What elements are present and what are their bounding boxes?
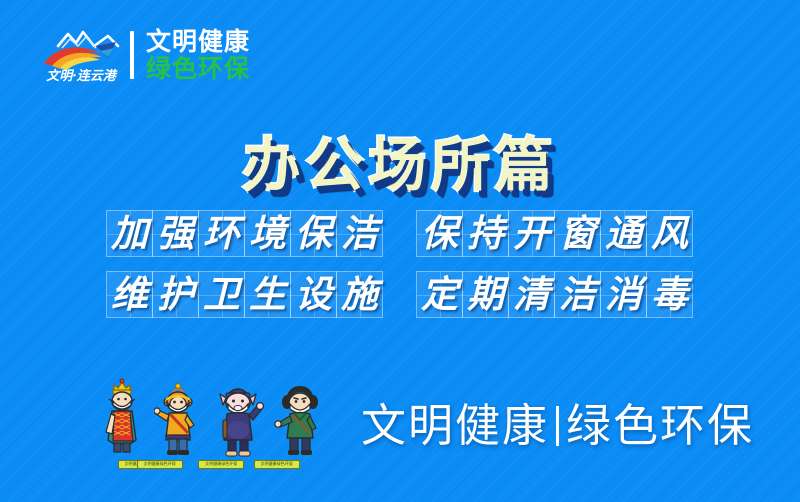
- grid-cell: 保: [290, 210, 337, 257]
- slogan-char: 风: [651, 215, 688, 252]
- grid-cell: 维: [106, 271, 153, 318]
- slogan-char: 开: [513, 215, 550, 252]
- slogan-row: 维 护 卫 生 设 施 定 期 清 洁 消 毒: [107, 271, 693, 318]
- slogan-char: 设: [295, 276, 332, 313]
- slogan-phrase: 加 强 环 境 保 洁: [107, 210, 383, 257]
- header-logo-group: 文明·连云港 文明健康 绿色环保: [38, 22, 250, 88]
- grid-cell: 护: [152, 271, 199, 318]
- slogan-grid: 加 强 环 境 保 洁 保 持 开 窗 通 风 维 护 卫 生 设: [0, 210, 800, 318]
- grid-cell: 强: [152, 210, 199, 257]
- bottom-slogan-divider: [556, 406, 559, 446]
- header-slogan: 文明健康 绿色环保: [146, 28, 250, 82]
- slogan-char: 环: [203, 215, 240, 252]
- sun-wukong-mascot-icon: 文明健康绿色环保: [154, 380, 210, 466]
- header-divider: [130, 31, 134, 79]
- poster-canvas: 文明·连云港 文明健康 绿色环保 办公场所篇 加 强 环 境 保 洁 保 持 开: [0, 0, 800, 502]
- bottom-slogan-right: 绿色环保: [566, 399, 754, 452]
- grid-cell: 保: [416, 210, 463, 257]
- sha-wujing-mascot-icon: 文明健康绿色环保: [272, 378, 330, 466]
- slogan-char: 洁: [341, 215, 378, 252]
- slogan-char: 境: [249, 215, 286, 252]
- grid-cell: 境: [244, 210, 291, 257]
- bottom-slogan-left: 文明健康: [361, 399, 549, 452]
- mountain-wave-logo-icon: 文明·连云港: [38, 24, 124, 86]
- grid-cell: 持: [462, 210, 509, 257]
- slogan-phrase: 保 持 开 窗 通 风: [417, 210, 693, 257]
- slogan-char: 窗: [559, 215, 596, 252]
- grid-cell: 期: [462, 271, 509, 318]
- grid-cell: 定: [416, 271, 463, 318]
- grid-cell: 清: [508, 271, 555, 318]
- slogan-char: 保: [421, 215, 458, 252]
- bottom-slogan: 文明健康绿色环保: [361, 389, 754, 454]
- slogan-char: 强: [157, 215, 194, 252]
- slogan-char: 消: [605, 276, 642, 313]
- mascot-label: 文明健康绿色环保: [198, 460, 244, 469]
- slogan-char: 加: [111, 215, 148, 252]
- page-title: 办公场所篇: [0, 118, 800, 202]
- slogan-char: 施: [341, 276, 378, 313]
- tang-monk-mascot-icon: 文明健康绿色环保: [100, 374, 152, 466]
- mascot-label: 文明健康绿色环保: [137, 460, 183, 469]
- slogan-char: 护: [157, 276, 194, 313]
- slogan-char: 清: [513, 276, 550, 313]
- grid-cell: 卫: [198, 271, 245, 318]
- grid-cell: 通: [600, 210, 647, 257]
- slogan-phrase: 维 护 卫 生 设 施: [107, 271, 383, 318]
- slogan-char: 期: [467, 276, 504, 313]
- header-slogan-line2: 绿色环保: [146, 55, 250, 82]
- slogan-row: 加 强 环 境 保 洁 保 持 开 窗 通 风: [107, 210, 693, 257]
- header-slogan-line1: 文明健康: [146, 28, 250, 55]
- slogan-char: 定: [421, 276, 458, 313]
- grid-cell: 洁: [554, 271, 601, 318]
- mascot-label: 文明健康绿色环保: [254, 460, 300, 469]
- grid-cell: 窗: [554, 210, 601, 257]
- grid-cell: 设: [290, 271, 337, 318]
- slogan-char: 持: [467, 215, 504, 252]
- grid-cell: 毒: [646, 271, 693, 318]
- grid-cell: 风: [646, 210, 693, 257]
- grid-cell: 加: [106, 210, 153, 257]
- grid-cell: 环: [198, 210, 245, 257]
- grid-cell: 开: [508, 210, 555, 257]
- grid-cell: 生: [244, 271, 291, 318]
- slogan-char: 洁: [559, 276, 596, 313]
- slogan-phrase: 定 期 清 洁 消 毒: [417, 271, 693, 318]
- slogan-char: 通: [605, 215, 642, 252]
- slogan-char: 毒: [651, 276, 688, 313]
- mascot-group: 文明健康绿色环保: [100, 378, 330, 466]
- slogan-char: 卫: [203, 276, 240, 313]
- grid-cell: 施: [336, 271, 383, 318]
- slogan-char: 保: [295, 215, 332, 252]
- grid-cell: 洁: [336, 210, 383, 257]
- slogan-char: 生: [249, 276, 286, 313]
- logo-wordmark: 文明·连云港: [46, 68, 118, 84]
- zhu-bajie-mascot-icon: 文明健康绿色环保: [212, 378, 270, 466]
- slogan-char: 维: [111, 276, 148, 313]
- grid-cell: 消: [600, 271, 647, 318]
